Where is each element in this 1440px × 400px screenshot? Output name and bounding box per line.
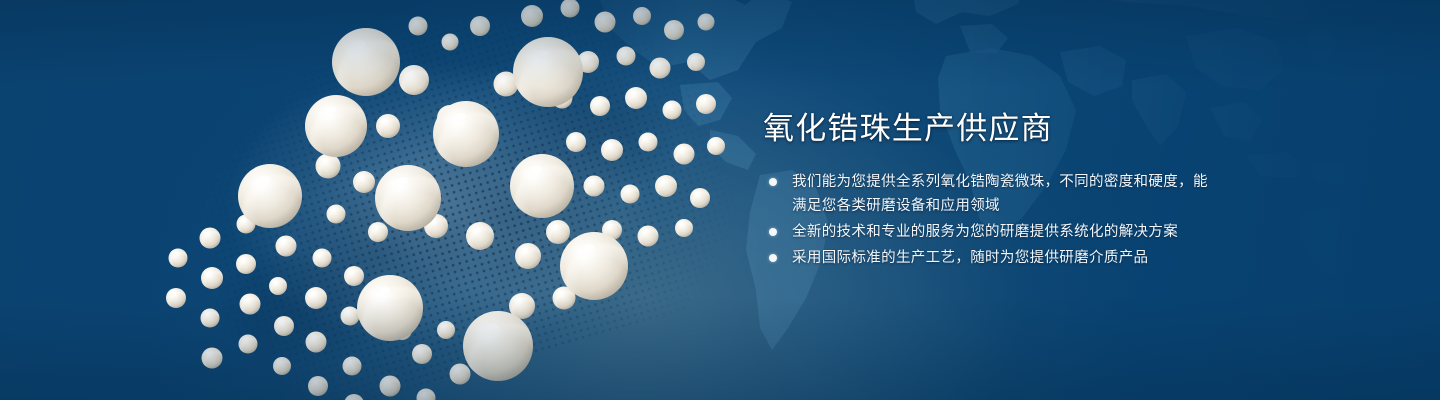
- bullet-dot-icon: [769, 228, 777, 236]
- feature-text: 我们能为您提供全系列氧化锆陶瓷微珠，不同的密度和硬度，能满足您各类研磨设备和应用…: [792, 170, 1215, 218]
- list-item: 我们能为您提供全系列氧化锆陶瓷微珠，不同的密度和硬度，能满足您各类研磨设备和应用…: [765, 170, 1215, 218]
- hero-banner: 氧化锆珠生产供应商 我们能为您提供全系列氧化锆陶瓷微珠，不同的密度和硬度，能满足…: [0, 0, 1440, 400]
- feature-text: 全新的技术和专业的服务为您的研磨提供系统化的解决方案: [792, 220, 1215, 244]
- banner-headline: 氧化锆珠生产供应商: [763, 109, 1053, 149]
- list-item: 全新的技术和专业的服务为您的研磨提供系统化的解决方案: [765, 220, 1215, 244]
- list-item: 采用国际标准的生产工艺，随时为您提供研磨介质产品: [765, 246, 1215, 270]
- banner-content: 氧化锆珠生产供应商 我们能为您提供全系列氧化锆陶瓷微珠，不同的密度和硬度，能满足…: [763, 0, 1233, 400]
- feature-text: 采用国际标准的生产工艺，随时为您提供研磨介质产品: [792, 246, 1215, 270]
- bullet-dot-icon: [769, 254, 777, 262]
- bullet-dot-icon: [769, 178, 777, 186]
- feature-list: 我们能为您提供全系列氧化锆陶瓷微珠，不同的密度和硬度，能满足您各类研磨设备和应用…: [765, 170, 1215, 272]
